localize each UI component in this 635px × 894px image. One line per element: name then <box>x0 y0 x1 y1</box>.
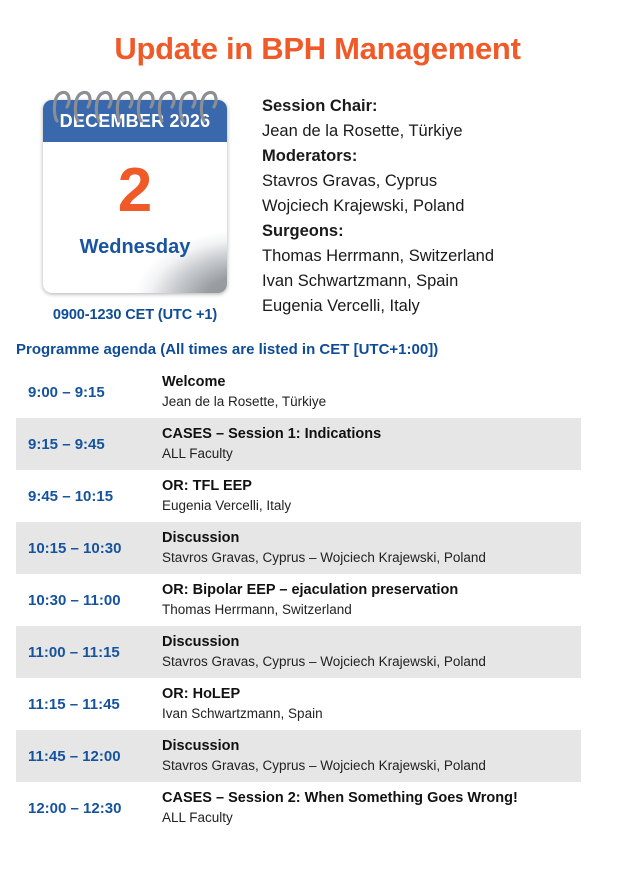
agenda-row-time: 12:00 – 12:30 <box>16 800 162 817</box>
agenda-row: 11:15 – 11:45 OR: HoLEP Ivan Schwartzman… <box>16 678 581 730</box>
faculty-role-surgeons: Surgeons: <box>262 219 635 244</box>
agenda-table: 9:00 – 9:15 Welcome Jean de la Rosette, … <box>16 366 581 834</box>
session-summary: DECEMBER 2026 2 Wednesday 0900 <box>0 66 635 323</box>
session-time-caption: 0900-1230 CET (UTC +1) <box>53 307 217 323</box>
agenda-row-content: Discussion Stavros Gravas, Cyprus – Wojc… <box>162 633 581 671</box>
faculty-person: Jean de la Rosette, Türkiye <box>262 119 635 144</box>
calendar-graphic: DECEMBER 2026 2 Wednesday <box>43 88 227 293</box>
agenda-row: 9:15 – 9:45 CASES – Session 1: Indicatio… <box>16 418 581 470</box>
calendar-body: DECEMBER 2026 2 Wednesday <box>43 100 227 293</box>
agenda-row-speaker: ALL Faculty <box>162 808 571 827</box>
agenda-row-content: Discussion Stavros Gravas, Cyprus – Wojc… <box>162 529 581 567</box>
agenda-row-speaker: Stavros Gravas, Cyprus – Wojciech Krajew… <box>162 756 571 775</box>
agenda-row: 12:00 – 12:30 CASES – Session 2: When So… <box>16 782 581 834</box>
agenda-row-title: OR: TFL EEP <box>162 477 571 496</box>
agenda-row-title: CASES – Session 1: Indications <box>162 425 571 444</box>
agenda-row-speaker: Jean de la Rosette, Türkiye <box>162 392 571 411</box>
calendar-block: DECEMBER 2026 2 Wednesday 0900 <box>0 88 262 323</box>
agenda-row: 10:15 – 10:30 Discussion Stavros Gravas,… <box>16 522 581 574</box>
agenda-row-title: OR: Bipolar EEP – ejaculation preservati… <box>162 581 571 600</box>
page-title: Update in BPH Management <box>0 0 635 66</box>
agenda-row-content: OR: HoLEP Ivan Schwartzmann, Spain <box>162 685 581 723</box>
agenda-row-content: CASES – Session 2: When Something Goes W… <box>162 789 581 827</box>
agenda-row-title: OR: HoLEP <box>162 685 571 704</box>
agenda-row-title: Discussion <box>162 529 571 548</box>
agenda-row-time: 9:15 – 9:45 <box>16 436 162 453</box>
agenda-heading: Programme agenda (All times are listed i… <box>0 323 635 366</box>
agenda-row-time: 11:45 – 12:00 <box>16 748 162 765</box>
agenda-row-content: CASES – Session 1: Indications ALL Facul… <box>162 425 581 463</box>
spiral-binding-icon <box>51 88 219 124</box>
agenda-row-speaker: ALL Faculty <box>162 444 571 463</box>
agenda-row-title: Discussion <box>162 633 571 652</box>
agenda-row-speaker: Stavros Gravas, Cyprus – Wojciech Krajew… <box>162 652 571 671</box>
agenda-row-speaker: Thomas Herrmann, Switzerland <box>162 600 571 619</box>
agenda-row-time: 11:15 – 11:45 <box>16 696 162 713</box>
agenda-row: 10:30 – 11:00 OR: Bipolar EEP – ejaculat… <box>16 574 581 626</box>
calendar-day-number: 2 <box>43 160 227 222</box>
agenda-row-time: 10:15 – 10:30 <box>16 540 162 557</box>
agenda-row-title: Welcome <box>162 373 571 392</box>
faculty-list: Session Chair: Jean de la Rosette, Türki… <box>262 88 635 319</box>
agenda-row-title: Discussion <box>162 737 571 756</box>
agenda-row-time: 10:30 – 11:00 <box>16 592 162 609</box>
agenda-row-time: 11:00 – 11:15 <box>16 644 162 661</box>
faculty-role-chair: Session Chair: <box>262 94 635 119</box>
faculty-person: Stavros Gravas, Cyprus <box>262 169 635 194</box>
faculty-role-moderators: Moderators: <box>262 144 635 169</box>
agenda-row-time: 9:45 – 10:15 <box>16 488 162 505</box>
agenda-row-speaker: Ivan Schwartzmann, Spain <box>162 704 571 723</box>
agenda-row: 11:45 – 12:00 Discussion Stavros Gravas,… <box>16 730 581 782</box>
agenda-row-title: CASES – Session 2: When Something Goes W… <box>162 789 571 808</box>
faculty-person: Eugenia Vercelli, Italy <box>262 294 635 319</box>
agenda-row-content: OR: Bipolar EEP – ejaculation preservati… <box>162 581 581 619</box>
agenda-row-content: Discussion Stavros Gravas, Cyprus – Wojc… <box>162 737 581 775</box>
agenda-row: 9:00 – 9:15 Welcome Jean de la Rosette, … <box>16 366 581 418</box>
calendar-weekday-label: Wednesday <box>43 236 227 259</box>
agenda-row-speaker: Eugenia Vercelli, Italy <box>162 496 571 515</box>
agenda-row-time: 9:00 – 9:15 <box>16 384 162 401</box>
agenda-row-content: Welcome Jean de la Rosette, Türkiye <box>162 373 581 411</box>
faculty-person: Ivan Schwartzmann, Spain <box>262 269 635 294</box>
agenda-row: 11:00 – 11:15 Discussion Stavros Gravas,… <box>16 626 581 678</box>
agenda-row-speaker: Stavros Gravas, Cyprus – Wojciech Krajew… <box>162 548 571 567</box>
faculty-person: Thomas Herrmann, Switzerland <box>262 244 635 269</box>
agenda-row-content: OR: TFL EEP Eugenia Vercelli, Italy <box>162 477 581 515</box>
faculty-person: Wojciech Krajewski, Poland <box>262 194 635 219</box>
agenda-row: 9:45 – 10:15 OR: TFL EEP Eugenia Vercell… <box>16 470 581 522</box>
